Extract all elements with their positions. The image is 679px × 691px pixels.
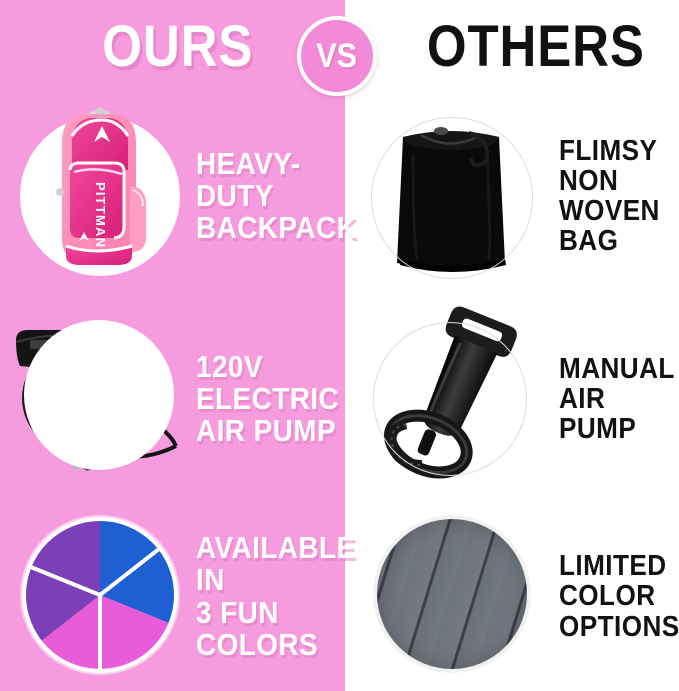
pink-backpack-icon: PITTMAN [40,106,158,284]
backpack-image: PITTMAN [14,104,182,289]
comparison-row-2: 120V ELECTRIC AIR PUMP [0,300,679,498]
vs-badge: VS [297,16,377,96]
color-wheel-divider [98,595,102,669]
vs-badge-label: VS [317,37,358,76]
others-caption-manual-pump: MANUAL AIR PUMP [559,354,675,444]
three-color-wheel-icon [22,517,178,673]
ours-caption-backpack: HEAVY-DUTY BACKPACK [196,148,357,245]
ours-cell-backpack: PITTMAN HEAVY-DUTY BACKPACK [0,96,345,296]
comparison-row-1: PITTMAN HEAVY-DUTY BACKPACK [0,96,679,296]
comparison-row-3: AVAILABLE IN 3 FUN COLORS LIMITED COLOR … [0,502,679,691]
electric-pump-image [14,312,182,487]
color-wheel-divider [99,547,160,596]
drawstring-bag-image [363,101,543,291]
others-cell-bag: FLIMSY NON WOVEN BAG [345,96,679,296]
others-cell-manual-pump: MANUAL AIR PUMP [345,300,679,498]
image-plate-outline [371,117,533,279]
grey-striped-disc-icon [373,515,531,673]
ours-caption-electric-pump: 120V ELECTRIC AIR PUMP [196,351,339,448]
color-wheel-image [14,511,182,683]
ours-cell-colors: AVAILABLE IN 3 FUN COLORS [0,502,345,691]
manual-pump-image [363,304,543,494]
image-plate-outline [373,322,527,476]
infographic-header: OURS VS OTHERS [0,0,679,100]
others-caption-colors: LIMITED COLOR OPTIONS [559,551,679,641]
ours-heading: OURS [102,14,253,80]
ours-caption-colors: AVAILABLE IN 3 FUN COLORS [196,532,356,661]
grey-disc-image [363,509,543,684]
others-caption-bag: FLIMSY NON WOVEN BAG [559,136,667,257]
color-wheel-divider [31,565,101,596]
others-heading: OTHERS [427,14,645,80]
svg-text:PITTMAN: PITTMAN [93,182,108,248]
ours-cell-electric-pump: 120V ELECTRIC AIR PUMP [0,300,345,498]
image-plate [24,320,174,470]
others-cell-colors: LIMITED COLOR OPTIONS [345,502,679,691]
comparison-infographic: OURS VS OTHERS [0,0,679,691]
